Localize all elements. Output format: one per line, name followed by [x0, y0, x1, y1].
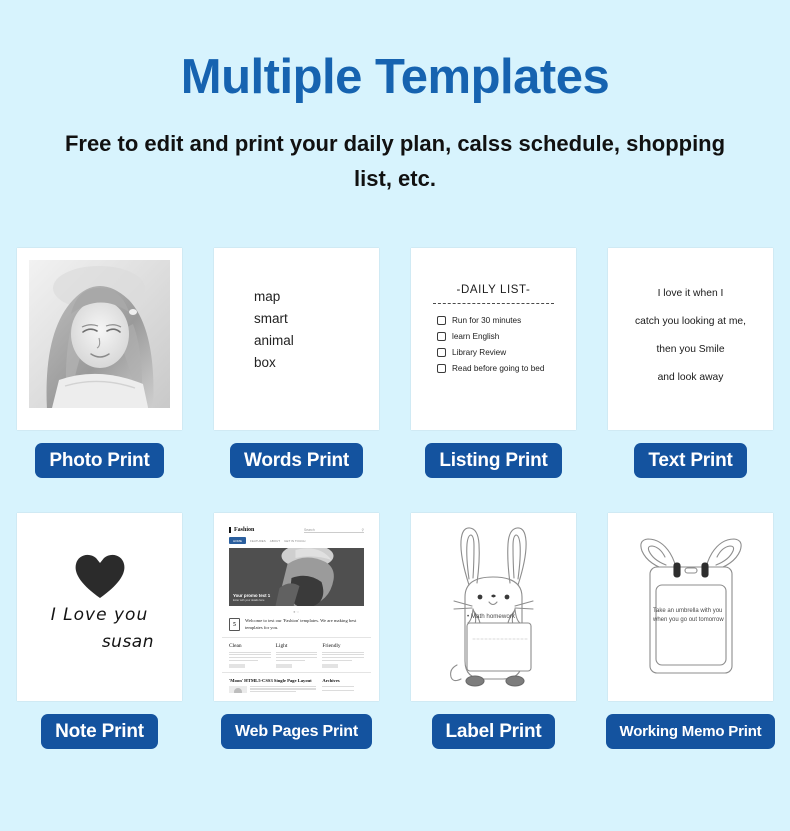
webpage-carousel-dots[interactable]: ●○ [222, 606, 371, 618]
template-row-1: Photo Print map smart animal box Words P… [0, 248, 790, 478]
feature-column: Light [276, 643, 318, 668]
bunny-line-art-icon [411, 513, 576, 701]
nav-item-contact[interactable]: GET IN TOUCH [284, 539, 305, 543]
dashed-divider [433, 303, 554, 304]
webpage-welcome-text: Welcome to test our 'Fashion' templates.… [245, 618, 364, 631]
button-text-print[interactable]: Text Print [634, 443, 746, 478]
template-cell-web-pages-print: Fashion Search ⚲ HOME FEATURES ABOUT GET… [203, 513, 391, 749]
button-listing-print[interactable]: Listing Print [425, 443, 561, 478]
words-preview-list: map smart animal box [254, 286, 294, 373]
webpage-logo: Fashion [229, 527, 254, 533]
webpage-header: Fashion Search ⚲ [222, 521, 371, 537]
word-item: animal [254, 330, 294, 352]
sidebar-archive-item[interactable] [322, 686, 354, 687]
daily-list-title: -DAILY LIST- [411, 284, 576, 296]
page-subtitle: Free to edit and print your daily plan, … [45, 127, 745, 195]
list-item: Library Review [437, 348, 562, 357]
webpage-search-bar[interactable]: Search ⚲ [304, 528, 364, 533]
text-line: and look away [618, 372, 763, 383]
template-cell-words-print: map smart animal box Words Print [203, 248, 391, 478]
feature-read-more-button[interactable] [229, 664, 245, 668]
photo-preview-image [29, 260, 170, 408]
list-item: learn English [437, 332, 562, 341]
template-cell-photo-print: Photo Print [6, 248, 194, 478]
button-label-print[interactable]: Label Print [432, 714, 556, 749]
template-row-2: I Love you susan Note Print Fashion Sear… [0, 513, 790, 749]
text-line: then you Smile [618, 344, 763, 355]
button-web-pages-print[interactable]: Web Pages Print [221, 714, 372, 749]
article-thumbnail [229, 686, 247, 693]
search-icon[interactable]: ⚲ [362, 528, 364, 532]
feature-title: Clean [229, 643, 271, 649]
preview-card-photo-print[interactable] [17, 248, 182, 430]
list-item: Run for 30 minutes [437, 316, 562, 325]
checkbox-icon [437, 364, 446, 373]
label-note-text: • Math homework [467, 613, 515, 620]
bullet-icon: • [467, 613, 469, 620]
button-working-memo-print[interactable]: Working Memo Print [606, 714, 776, 749]
nav-item-home[interactable]: HOME [229, 537, 246, 544]
webpage-hero-caption: Your promo text 1 Enter with your detail… [233, 593, 270, 602]
html5-badge-icon: 5 [229, 618, 240, 631]
template-cell-text-print: I love it when I catch you looking at me… [597, 248, 785, 478]
list-item-label: Library Review [452, 348, 506, 357]
word-item: map [254, 286, 294, 308]
hero-caption-title: Your promo text 1 [233, 593, 270, 598]
template-cell-working-memo-print: Take an umbrella with you when you go ou… [597, 513, 785, 749]
text-line: I love it when I [618, 288, 763, 299]
search-input[interactable]: Search [304, 528, 315, 532]
feature-read-more-button[interactable] [276, 664, 292, 668]
webpage-article: 'Moon' HTML5-CSS3 Single Page Layout [229, 678, 316, 693]
daily-list-items: Run for 30 minutes learn English Library… [437, 316, 562, 380]
template-grid: Photo Print map smart animal box Words P… [0, 248, 790, 749]
feature-title: Friendly [322, 643, 364, 649]
webpage-nav: HOME FEATURES ABOUT GET IN TOUCH [222, 537, 371, 548]
webpage-hero-image: Your promo text 1 Enter with your detail… [229, 548, 364, 606]
word-item: smart [254, 308, 294, 330]
list-item: Read before going to bed [437, 364, 562, 373]
webpage-welcome-block: 5 Welcome to test our 'Fashion' template… [222, 618, 371, 637]
template-cell-listing-print: -DAILY LIST- Run for 30 minutes learn En… [400, 248, 588, 478]
preview-card-label-print[interactable]: • Math homework [411, 513, 576, 701]
list-item-label: Read before going to bed [452, 364, 544, 373]
webpage-feature-columns: Clean Light Friendly [222, 638, 371, 673]
list-item-label: learn English [452, 332, 499, 341]
feature-title: Light [276, 643, 318, 649]
checkbox-icon [437, 348, 446, 357]
preview-card-listing-print[interactable]: -DAILY LIST- Run for 30 minutes learn En… [411, 248, 576, 430]
preview-card-words-print[interactable]: map smart animal box [214, 248, 379, 430]
list-item-label: Run for 30 minutes [452, 316, 521, 325]
note-line-1: I Love you [17, 605, 182, 625]
feature-column: Clean [229, 643, 271, 668]
nav-item-features[interactable]: FEATURES [250, 539, 266, 543]
preview-card-working-memo-print[interactable]: Take an umbrella with you when you go ou… [608, 513, 773, 701]
template-cell-label-print: • Math homework Label Print [400, 513, 588, 749]
button-note-print[interactable]: Note Print [41, 714, 158, 749]
checkbox-icon [437, 332, 446, 341]
hero-caption-sub: Enter with your details here [233, 599, 264, 602]
heart-icon [73, 553, 127, 604]
preview-card-text-print[interactable]: I love it when I catch you looking at me… [608, 248, 773, 430]
button-words-print[interactable]: Words Print [230, 443, 363, 478]
preview-card-note-print[interactable]: I Love you susan [17, 513, 182, 701]
webpage-mock: Fashion Search ⚲ HOME FEATURES ABOUT GET… [222, 521, 371, 693]
hero-section: Multiple Templates Free to edit and prin… [0, 0, 790, 196]
text-preview-lines: I love it when I catch you looking at me… [618, 288, 763, 400]
sidebar-title: Archives [322, 678, 364, 683]
feature-column: Friendly [322, 643, 364, 668]
page-root: Multiple Templates Free to edit and prin… [0, 0, 790, 831]
article-title: 'Moon' HTML5-CSS3 Single Page Layout [229, 678, 316, 683]
note-line-2: susan [17, 632, 154, 652]
webpage-footer: 'Moon' HTML5-CSS3 Single Page Layout [222, 673, 371, 693]
sidebar-archive-item[interactable] [322, 690, 354, 691]
text-line: catch you looking at me, [618, 316, 763, 327]
template-cell-note-print: I Love you susan Note Print [6, 513, 194, 749]
button-photo-print[interactable]: Photo Print [35, 443, 163, 478]
memo-note-text: Take an umbrella with you when you go ou… [653, 607, 731, 626]
nav-item-about[interactable]: ABOUT [270, 539, 280, 543]
page-title: Multiple Templates [0, 52, 790, 103]
checkbox-icon [437, 316, 446, 325]
word-item: box [254, 352, 294, 374]
preview-card-web-pages-print[interactable]: Fashion Search ⚲ HOME FEATURES ABOUT GET… [214, 513, 379, 701]
label-note-label: Math homework [471, 613, 515, 620]
webpage-sidebar: Archives [322, 678, 364, 693]
feature-read-more-button[interactable] [322, 664, 338, 668]
